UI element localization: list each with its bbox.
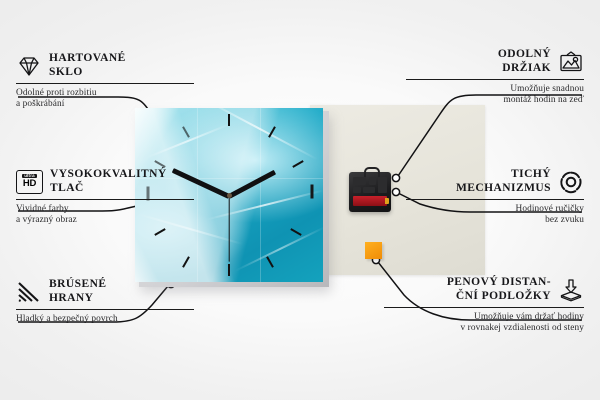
feature-subtitle: Umožňuje vám držať hodiny v rovnakej vzd… — [384, 312, 584, 335]
feature-title: TICHÝ MECHANIZMUS — [456, 168, 551, 195]
feature-subtitle: Umožňuje snadnou montáž hodin na zeď — [406, 84, 584, 107]
tick-8 — [154, 228, 165, 236]
feature-header: PENOVÝ DISTAN- ČNÍ PODLOŽKY — [384, 276, 584, 303]
gear-icon — [558, 170, 584, 194]
feature-title: ODOLNÝ DRŽIAK — [498, 48, 551, 75]
tick-4 — [290, 228, 301, 236]
tick-7 — [182, 256, 190, 267]
tick-11 — [182, 126, 190, 137]
tick-5 — [266, 256, 274, 267]
feature-title: HARTOVANÉ SKLO — [49, 52, 126, 79]
feature-title: BRÚSENÉ HRANY — [49, 278, 106, 305]
divider — [406, 79, 584, 80]
hour-hand — [228, 170, 276, 199]
mechanism-detail — [378, 177, 387, 193]
clock-mechanism — [349, 172, 391, 212]
feature-title: VYSOKOKVALITNÝ TLAČ — [50, 168, 167, 195]
glass-seam — [197, 108, 198, 282]
feature-durable-hanger[interactable]: ODOLNÝ DRŽIAK Umožňuje snadnou montáž ho… — [406, 48, 584, 107]
divider — [406, 199, 584, 200]
picture-frame-icon — [558, 50, 584, 74]
tick-10 — [154, 160, 165, 168]
clock-hub — [227, 193, 232, 198]
divider — [16, 83, 194, 84]
aa-battery — [353, 196, 387, 206]
feature-tempered-glass[interactable]: HARTOVANÉ SKLO Odolné proti rozbitiu a p… — [16, 52, 194, 111]
tick-3 — [311, 185, 314, 199]
hanger-hook-icon — [364, 167, 380, 177]
tick-12 — [228, 114, 230, 126]
mechanism-detail — [363, 187, 375, 193]
feature-ground-edges[interactable]: BRÚSENÉ HRANY Hladký a bezpečný povrch — [16, 278, 194, 325]
divider — [16, 309, 194, 310]
foam-spacer-sample — [365, 242, 382, 259]
feature-header: ODOLNÝ DRŽIAK — [406, 48, 584, 75]
second-hand — [228, 196, 229, 262]
connector-holder — [398, 95, 582, 176]
product-infographic: HARTOVANÉ SKLO Odolné proti rozbitiu a p… — [0, 0, 600, 400]
tick-2 — [292, 160, 303, 168]
feature-subtitle: Hodinové ručičky bez zvuku — [406, 204, 584, 227]
feature-subtitle: Vividné farby a výrazný obraz — [16, 204, 194, 227]
feature-foam-spacers[interactable]: PENOVÝ DISTAN- ČNÍ PODLOŽKY Umožňuje vám… — [384, 276, 584, 335]
divider — [384, 307, 584, 308]
feature-silent-mechanism[interactable]: TICHÝ MECHANIZMUS Hodinové ručičky bez z… — [406, 168, 584, 227]
mechanism-detail — [369, 177, 376, 185]
feather-streak — [235, 226, 323, 272]
ultra-hd-icon: ultra HD — [16, 170, 43, 194]
hotspot-holder — [392, 174, 399, 181]
feather-streak — [146, 123, 230, 159]
feature-subtitle: Odolné proti rozbitiu a poškrábání — [16, 88, 194, 111]
press-down-layers-icon — [558, 278, 584, 302]
beveled-edge-icon — [16, 280, 42, 304]
feature-subtitle: Hladký a bezpečný povrch — [16, 314, 194, 325]
feature-header: BRÚSENÉ HRANY — [16, 278, 194, 305]
divider — [16, 199, 194, 200]
feature-header: HARTOVANÉ SKLO — [16, 52, 194, 79]
feature-header: TICHÝ MECHANIZMUS — [406, 168, 584, 195]
mechanism-detail — [353, 187, 361, 193]
feature-title: PENOVÝ DISTAN- ČNÍ PODLOŽKY — [447, 276, 551, 303]
diamond-icon — [16, 54, 42, 78]
feature-header: ultra HD VYSOKOKVALITNÝ TLAČ — [16, 168, 194, 195]
feature-high-quality-print[interactable]: ultra HD VYSOKOKVALITNÝ TLAČ Vividné far… — [16, 168, 194, 227]
hotspot-mechanism — [392, 188, 399, 195]
mechanism-detail — [353, 177, 366, 185]
battery-terminal — [385, 198, 389, 204]
tick-6 — [228, 264, 230, 276]
